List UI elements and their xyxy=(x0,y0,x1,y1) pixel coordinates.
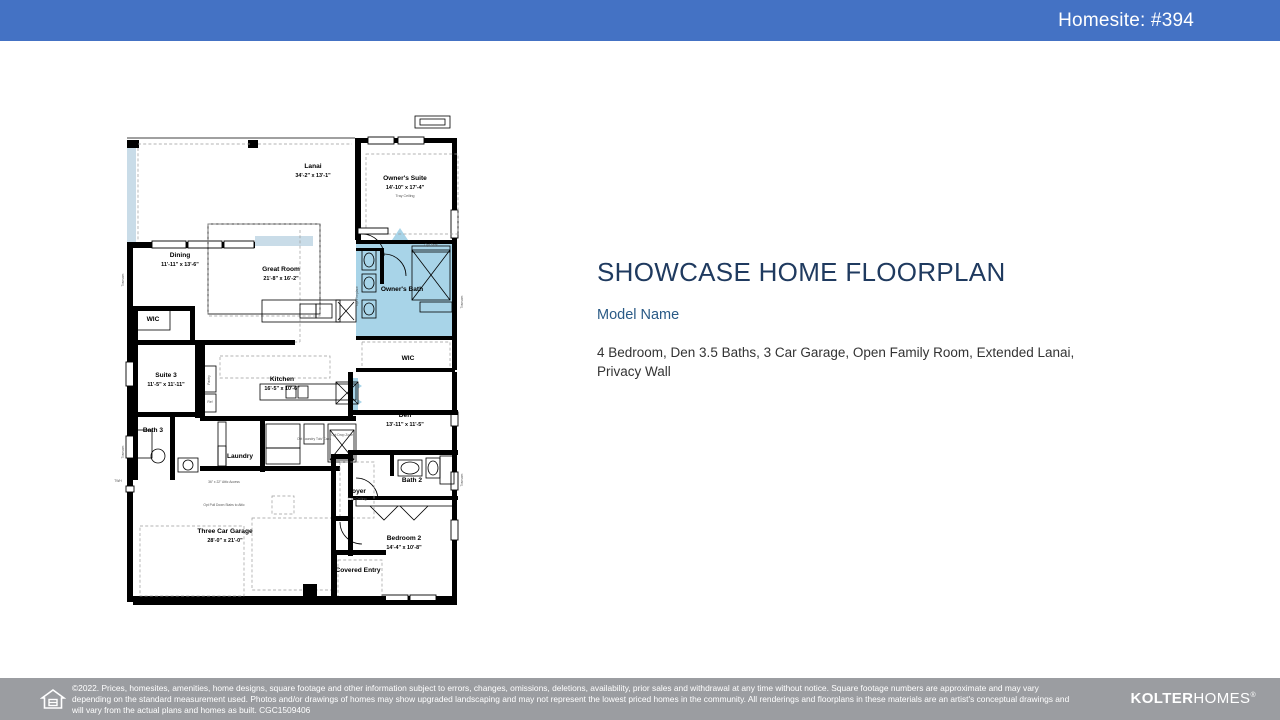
opt-pull-down-stairs-note: Opt Pull Down Stairs to Attic xyxy=(203,503,245,507)
room-label-owners-bath: Owner's Bath xyxy=(381,286,423,293)
page-title: SHOWCASE HOME FLOORPLAN xyxy=(597,258,1097,287)
logo-light-text: HOMES xyxy=(1193,690,1250,707)
svg-text:Three Car Garage: Three Car Garage xyxy=(197,528,253,535)
floorplan-drawing: .w { fill:#000; } .thin { fill:none; str… xyxy=(100,110,500,630)
svg-text:Suite 3: Suite 3 xyxy=(155,372,177,379)
room-label-suite-3: Suite 3 11'-5" x 11'-11" xyxy=(147,372,185,388)
twh-note: TWH xyxy=(114,479,122,483)
svg-text:Den: Den xyxy=(399,412,411,419)
footer-disclaimer: ©2022. Prices, homesites, amenities, hom… xyxy=(72,683,1077,716)
room-label-laundry: Laundry xyxy=(227,453,253,460)
svg-text:13'-11" x 11'-5": 13'-11" x 11'-5" xyxy=(386,422,424,428)
room-label-bath-3: Bath 3 xyxy=(143,427,163,434)
opt-drop-zone-note: Opt Drop Zone xyxy=(331,433,353,437)
svg-text:11'-5" x 11'-11": 11'-5" x 11'-11" xyxy=(147,382,185,388)
room-label-foyer: Foyer Tray Ceiling xyxy=(347,488,366,501)
opt-seat-note: Opt Seat xyxy=(424,243,437,247)
model-name: Model Name xyxy=(597,307,1097,323)
attic-access-note: 36" x 22" Attic Access xyxy=(208,480,240,484)
room-label-great-room: Great Room 21'-8" x 16'-2" xyxy=(262,266,300,282)
svg-text:Lanai: Lanai xyxy=(304,163,321,170)
logo-bold-text: KOLTER xyxy=(1130,690,1193,707)
svg-text:14'-10" x 17'-4": 14'-10" x 17'-4" xyxy=(386,185,425,191)
svg-text:34'-2" x 13'-1": 34'-2" x 13'-1" xyxy=(295,173,331,179)
info-panel: SHOWCASE HOME FLOORPLAN Model Name 4 Bed… xyxy=(597,258,1097,381)
svg-text:WIC: WIC xyxy=(147,316,160,323)
transom-note-right-lower: Transom xyxy=(460,473,464,486)
logo-registered-mark: ® xyxy=(1250,692,1256,699)
room-label-owners-wic: WIC xyxy=(402,355,415,362)
room-label-lanai: Lanai 34'-2" x 13'-1" xyxy=(295,163,331,179)
room-label-owners-suite: Owner's Suite 14'-10" x 17'-4" Tray Ceil… xyxy=(383,175,427,198)
transom-note-left-lower: Transom xyxy=(121,445,125,458)
room-label-bath-2: Bath 2 xyxy=(402,477,422,484)
opt-laundry-tub-cabs-note: Opt Laundry Tub/ Cabs xyxy=(297,437,331,441)
svg-text:Laundry: Laundry xyxy=(227,453,253,460)
pantry-note: Pantry xyxy=(207,375,211,385)
svg-text:WIC: WIC xyxy=(402,355,415,362)
ref-note: Ref xyxy=(207,400,212,404)
transom-note-left-upper: Transom xyxy=(121,273,125,286)
svg-text:14'-4" x 10'-8": 14'-4" x 10'-8" xyxy=(386,545,422,551)
home-description: 4 Bedroom, Den 3.5 Baths, 3 Car Garage, … xyxy=(597,343,1077,381)
floorplan-image: .w { fill:#000; } .thin { fill:none; str… xyxy=(100,110,500,630)
room-label-covered-entry: Covered Entry xyxy=(335,567,380,574)
svg-text:11'-11" x 13'-6": 11'-11" x 13'-6" xyxy=(161,262,199,268)
room-label-dining: Dining 11'-11" x 13'-6" xyxy=(161,252,199,268)
svg-text:Owner's Bath: Owner's Bath xyxy=(381,286,423,293)
svg-text:Covered Entry: Covered Entry xyxy=(335,567,380,574)
svg-text:Bath 3: Bath 3 xyxy=(143,427,163,434)
kolter-homes-logo: KOLTERHOMES® xyxy=(1130,690,1256,707)
svg-text:Dining: Dining xyxy=(170,252,191,259)
svg-text:Bath 2: Bath 2 xyxy=(402,477,422,484)
svg-text:Great Room: Great Room xyxy=(262,266,300,273)
transom-note-right-upper: Transom xyxy=(460,295,464,308)
svg-text:16'-5" x 10'-6": 16'-5" x 10'-6" xyxy=(264,386,300,392)
svg-text:Owner's Suite: Owner's Suite xyxy=(383,175,427,182)
equal-housing-opportunity-icon xyxy=(40,687,66,711)
header-bar: Homesite: #394 xyxy=(0,0,1280,41)
svg-text:Tray Ceiling: Tray Ceiling xyxy=(395,194,414,198)
room-label-suite3-wic: WIC xyxy=(147,316,160,323)
svg-text:Foyer: Foyer xyxy=(348,488,366,495)
svg-text:Tray Ceiling: Tray Ceiling xyxy=(347,497,366,501)
room-label-three-car-garage: Three Car Garage 28'-0" x 21'-0" xyxy=(197,528,253,544)
svg-text:28'-0" x 21'-0": 28'-0" x 21'-0" xyxy=(207,538,243,544)
svg-text:Bedroom 2: Bedroom 2 xyxy=(387,535,422,542)
opt-fireplace-note: Opt Fireplace xyxy=(355,286,359,306)
svg-text:21'-8" x 16'-2": 21'-8" x 16'-2" xyxy=(263,276,299,282)
homesite-label: Homesite: #394 xyxy=(1058,10,1194,32)
room-label-bedroom-2: Bedroom 2 14'-4" x 10'-8" xyxy=(386,535,422,551)
svg-text:Kitchen: Kitchen xyxy=(270,376,294,383)
